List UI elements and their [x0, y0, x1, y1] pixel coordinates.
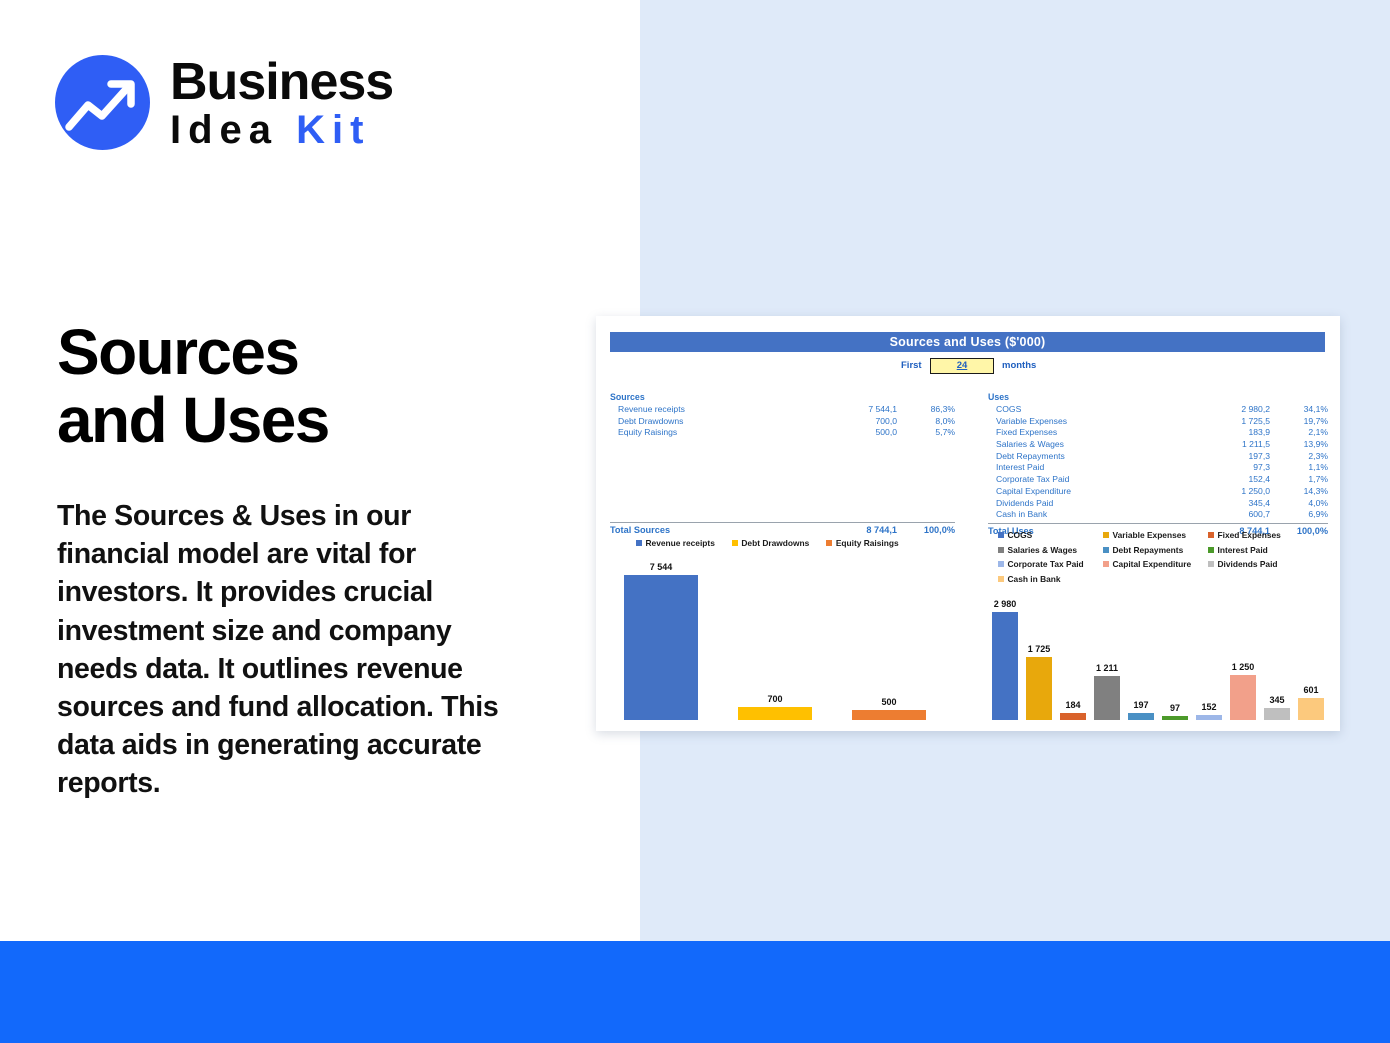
uses-row-label: Salaries & Wages — [988, 439, 1192, 449]
page-title: Sourcesand Uses — [57, 318, 577, 455]
bar-column: 7 544 — [624, 560, 698, 720]
bar — [624, 575, 698, 720]
bar-column: 1 725 — [1026, 600, 1052, 720]
uses-row-pct: 4,0% — [1270, 498, 1328, 508]
legend-swatch-icon — [1208, 547, 1214, 553]
uses-row-label: Capital Expenditure — [988, 486, 1192, 496]
sources-bar-chart: 7 544700500 — [624, 560, 936, 720]
sources-row-value: 7 544,1 — [819, 404, 897, 414]
sources-total-row: Total Sources 8 744,1 100,0% — [610, 522, 955, 535]
table-row: COGS2 980,234,1% — [988, 404, 1328, 416]
months-input[interactable]: 24 — [930, 358, 994, 374]
period-selector-row: First 24 months — [596, 358, 1340, 378]
bar-value-label: 97 — [1170, 703, 1180, 713]
legend-item[interactable]: Fixed Expenses — [1208, 530, 1313, 540]
legend-swatch-icon — [998, 532, 1004, 538]
uses-row-value: 1 250,0 — [1192, 486, 1270, 496]
uses-row-label: Debt Repayments — [988, 451, 1192, 461]
uses-row-value: 600,7 — [1192, 509, 1270, 519]
uses-row-pct: 6,9% — [1270, 509, 1328, 519]
bar-column: 1 211 — [1094, 600, 1120, 720]
uses-row-label: Dividends Paid — [988, 498, 1192, 508]
sources-rows: Revenue receipts7 544,186,3%Debt Drawdow… — [610, 404, 955, 439]
sources-row-label: Equity Raisings — [610, 427, 819, 437]
legend-item[interactable]: Cash in Bank — [998, 574, 1103, 584]
bar-column: 1 250 — [1230, 600, 1256, 720]
legend-label: Debt Drawdowns — [741, 538, 809, 548]
bar — [738, 707, 812, 720]
legend-label: Interest Paid — [1218, 545, 1268, 555]
brand-name-idea: Idea — [170, 108, 278, 152]
sources-row-pct: 86,3% — [897, 404, 955, 414]
uses-row-label: Fixed Expenses — [988, 427, 1192, 437]
uses-row-value: 197,3 — [1192, 451, 1270, 461]
footer-accent-bar — [0, 941, 1390, 1043]
bar — [1230, 675, 1256, 720]
uses-table-header: Uses — [988, 392, 1328, 402]
uses-row-value: 2 980,2 — [1192, 404, 1270, 414]
bar-value-label: 1 250 — [1232, 662, 1255, 672]
table-row: Fixed Expenses183,92,1% — [988, 427, 1328, 439]
legend-item[interactable]: Capital Expenditure — [1103, 559, 1208, 569]
sources-chart-legend: Revenue receiptsDebt DrawdownsEquity Rai… — [636, 538, 899, 548]
uses-row-pct: 2,1% — [1270, 427, 1328, 437]
bar — [992, 612, 1018, 720]
sources-table: Sources Revenue receipts7 544,186,3%Debt… — [610, 392, 955, 535]
sources-row-pct: 5,7% — [897, 427, 955, 437]
bar-column: 500 — [852, 560, 926, 720]
legend-swatch-icon — [1208, 561, 1214, 567]
uses-row-pct: 1,1% — [1270, 462, 1328, 472]
bar-value-label: 345 — [1269, 695, 1284, 705]
uses-row-pct: 34,1% — [1270, 404, 1328, 414]
legend-swatch-icon — [826, 540, 832, 546]
uses-row-value: 1 211,5 — [1192, 439, 1270, 449]
bar — [852, 710, 926, 720]
uses-row-label: COGS — [988, 404, 1192, 414]
uses-chart-legend: COGSVariable ExpensesFixed ExpensesSalar… — [998, 530, 1336, 588]
table-row: Cash in Bank600,76,9% — [988, 509, 1328, 521]
table-row: Equity Raisings500,05,7% — [610, 427, 955, 439]
brand-logo: Business Idea Kit — [55, 55, 393, 150]
legend-label: Corporate Tax Paid — [1008, 559, 1084, 569]
sources-row-value: 700,0 — [819, 416, 897, 426]
legend-item[interactable]: Revenue receipts — [636, 538, 715, 548]
table-row: Debt Repayments197,32,3% — [988, 451, 1328, 463]
uses-rows: COGS2 980,234,1%Variable Expenses1 725,5… — [988, 404, 1328, 521]
worksheet-title: Sources and Uses ($'000) — [610, 332, 1325, 352]
uses-row-pct: 14,3% — [1270, 486, 1328, 496]
table-row: Interest Paid97,31,1% — [988, 462, 1328, 474]
legend-item[interactable]: Corporate Tax Paid — [998, 559, 1103, 569]
bar — [1094, 676, 1120, 720]
uses-row-label: Cash in Bank — [988, 509, 1192, 519]
sources-total-value: 8 744,1 — [819, 525, 897, 535]
bar-value-label: 184 — [1065, 700, 1080, 710]
sources-row-label: Revenue receipts — [610, 404, 819, 414]
legend-swatch-icon — [1208, 532, 1214, 538]
brand-name-primary: Business — [170, 56, 393, 108]
uses-row-label: Corporate Tax Paid — [988, 474, 1192, 484]
page-description: The Sources & Uses in our financial mode… — [57, 497, 527, 803]
legend-label: Dividends Paid — [1218, 559, 1278, 569]
sources-row-value: 500,0 — [819, 427, 897, 437]
legend-label: Revenue receipts — [646, 538, 715, 548]
legend-label: Variable Expenses — [1113, 530, 1187, 540]
uses-row-pct: 13,9% — [1270, 439, 1328, 449]
legend-swatch-icon — [1103, 547, 1109, 553]
bar — [1026, 657, 1052, 720]
bar — [1298, 698, 1324, 720]
bar-column: 152 — [1196, 600, 1222, 720]
uses-bar-chart: 2 9801 7251841 211197971521 250345601 — [992, 600, 1332, 720]
uses-table: Uses COGS2 980,234,1%Variable Expenses1 … — [988, 392, 1328, 536]
bar — [1264, 708, 1290, 721]
uses-row-value: 183,9 — [1192, 427, 1270, 437]
bar — [1128, 713, 1154, 720]
legend-label: Equity Raisings — [836, 538, 899, 548]
trending-arrow-icon — [55, 55, 150, 150]
uses-row-label: Interest Paid — [988, 462, 1192, 472]
bar-value-label: 152 — [1201, 702, 1216, 712]
bar-value-label: 1 725 — [1028, 644, 1051, 654]
uses-row-pct: 2,3% — [1270, 451, 1328, 461]
legend-item[interactable]: Dividends Paid — [1208, 559, 1313, 569]
legend-item[interactable]: Salaries & Wages — [998, 545, 1103, 555]
bar-value-label: 601 — [1303, 685, 1318, 695]
period-suffix-label: months — [1002, 360, 1036, 371]
legend-item[interactable]: Interest Paid — [1208, 545, 1313, 555]
uses-row-pct: 19,7% — [1270, 416, 1328, 426]
sources-total-pct: 100,0% — [897, 525, 955, 535]
bar-column: 197 — [1128, 600, 1154, 720]
table-row: Dividends Paid345,44,0% — [988, 498, 1328, 510]
legend-item[interactable]: Debt Drawdowns — [732, 538, 809, 548]
uses-row-pct: 1,7% — [1270, 474, 1328, 484]
legend-item[interactable]: COGS — [998, 530, 1103, 540]
bar-column: 2 980 — [992, 600, 1018, 720]
bar-column: 345 — [1264, 600, 1290, 720]
legend-label: Salaries & Wages — [1008, 545, 1078, 555]
sources-table-header: Sources — [610, 392, 955, 402]
bar — [1196, 715, 1222, 721]
table-row: Debt Drawdowns700,08,0% — [610, 416, 955, 428]
legend-item[interactable]: Debt Repayments — [1103, 545, 1208, 555]
bar-value-label: 500 — [881, 697, 896, 707]
legend-label: Debt Repayments — [1113, 545, 1184, 555]
sources-row-pct: 8,0% — [897, 416, 955, 426]
sources-spacer — [610, 439, 955, 520]
bar-value-label: 700 — [767, 694, 782, 704]
uses-row-label: Variable Expenses — [988, 416, 1192, 426]
legend-swatch-icon — [998, 576, 1004, 582]
uses-row-value: 152,4 — [1192, 474, 1270, 484]
legend-swatch-icon — [998, 547, 1004, 553]
uses-row-value: 345,4 — [1192, 498, 1270, 508]
period-prefix-label: First — [901, 360, 922, 371]
sources-total-label: Total Sources — [610, 525, 819, 535]
bar-value-label: 197 — [1133, 700, 1148, 710]
bar — [1060, 713, 1086, 720]
legend-item[interactable]: Equity Raisings — [826, 538, 898, 548]
brand-name-kit: Kit — [296, 108, 370, 152]
legend-label: Capital Expenditure — [1113, 559, 1192, 569]
legend-swatch-icon — [732, 540, 738, 546]
bar-value-label: 2 980 — [994, 599, 1017, 609]
table-row: Corporate Tax Paid152,41,7% — [988, 474, 1328, 486]
table-row: Variable Expenses1 725,519,7% — [988, 416, 1328, 428]
legend-swatch-icon — [1103, 532, 1109, 538]
table-row: Salaries & Wages1 211,513,9% — [988, 439, 1328, 451]
legend-item[interactable]: Variable Expenses — [1103, 530, 1208, 540]
sources-row-label: Debt Drawdowns — [610, 416, 819, 426]
uses-row-value: 1 725,5 — [1192, 416, 1270, 426]
bar-column: 601 — [1298, 600, 1324, 720]
table-row: Capital Expenditure1 250,014,3% — [988, 486, 1328, 498]
bar-column: 184 — [1060, 600, 1086, 720]
table-row: Revenue receipts7 544,186,3% — [610, 404, 955, 416]
bar-column: 700 — [738, 560, 812, 720]
bar-value-label: 1 211 — [1096, 663, 1118, 673]
uses-row-value: 97,3 — [1192, 462, 1270, 472]
legend-label: Fixed Expenses — [1218, 530, 1281, 540]
legend-label: Cash in Bank — [1008, 574, 1061, 584]
bar — [1162, 716, 1188, 720]
legend-swatch-icon — [1103, 561, 1109, 567]
legend-swatch-icon — [636, 540, 642, 546]
legend-swatch-icon — [998, 561, 1004, 567]
bar-value-label: 7 544 — [650, 562, 673, 572]
bar-column: 97 — [1162, 600, 1188, 720]
legend-label: COGS — [1008, 530, 1033, 540]
